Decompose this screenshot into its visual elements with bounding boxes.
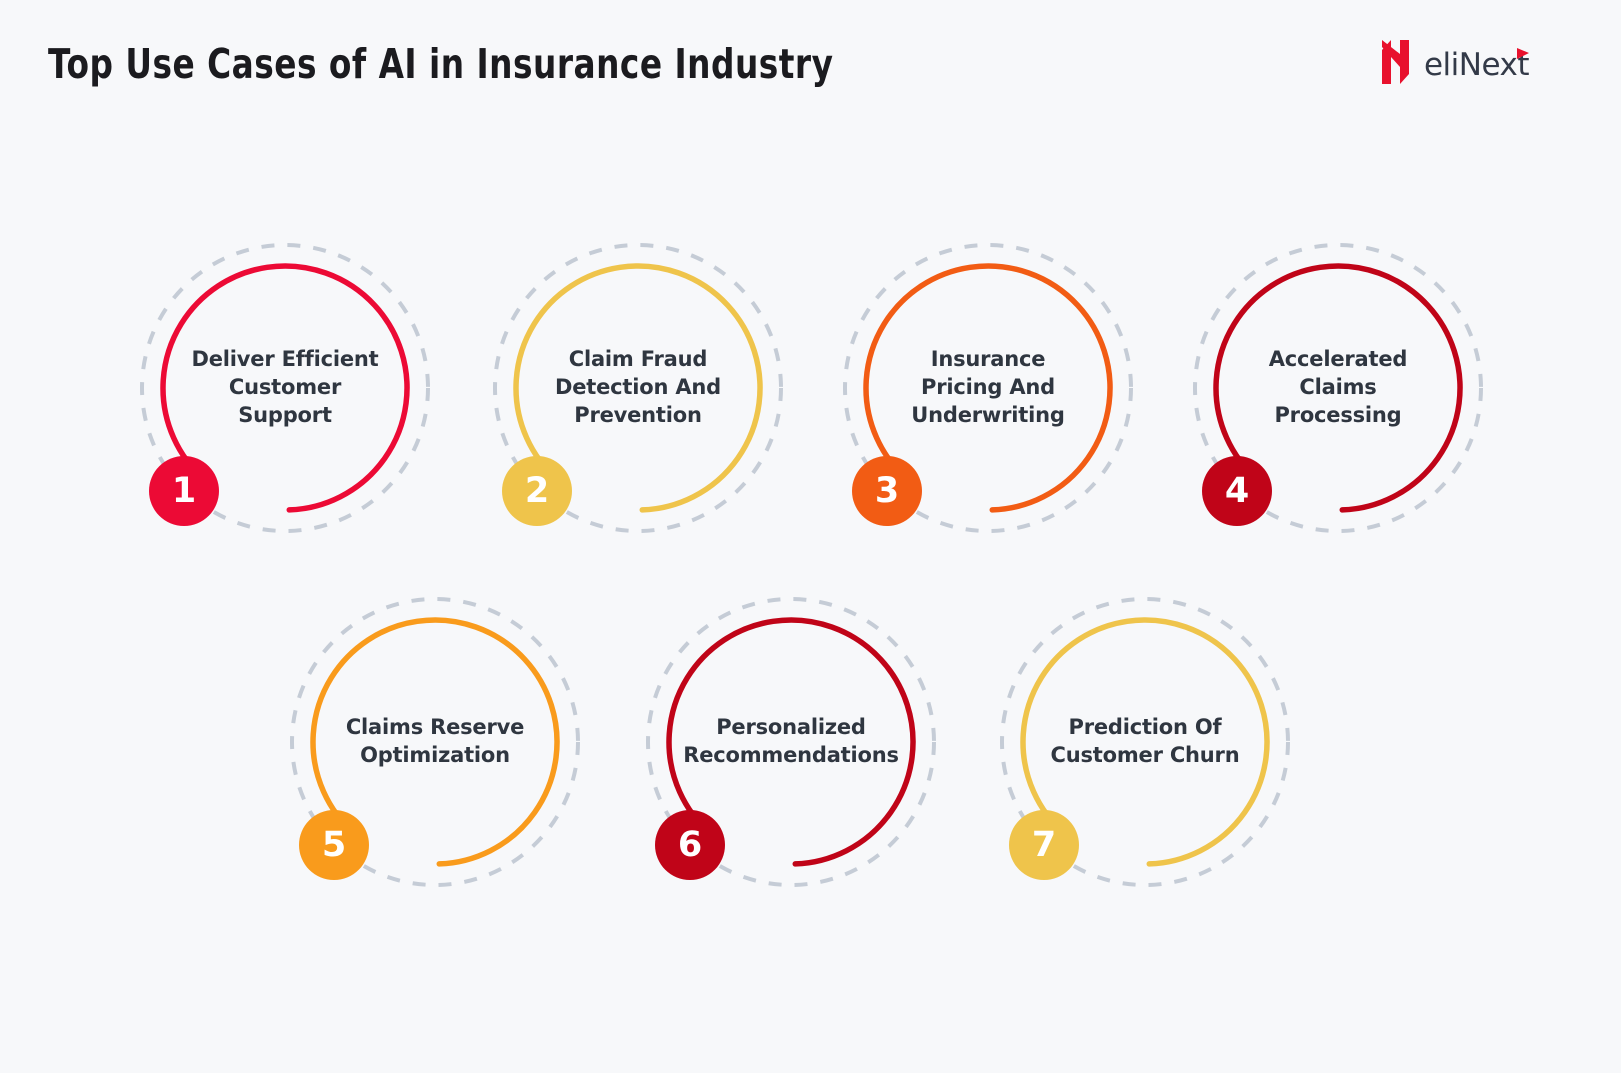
use-case-label: Claim Fraud Detection And Prevention	[472, 346, 804, 430]
step-number-text: 6	[678, 828, 702, 863]
use-case-label: Prediction Of Customer Churn	[979, 714, 1311, 770]
step-number-text: 5	[322, 828, 346, 863]
step-number-badge: 2	[502, 456, 572, 526]
use-case-label: Deliver Efficient Customer Support	[119, 346, 451, 430]
step-number-badge: 5	[299, 810, 369, 880]
use-case-label: Personalized Recommendations	[625, 714, 957, 770]
use-case-card-7[interactable]: Prediction Of Customer Churn7	[995, 592, 1295, 892]
use-case-card-6[interactable]: Personalized Recommendations6	[641, 592, 941, 892]
step-number-badge: 7	[1009, 810, 1079, 880]
step-number-text: 2	[525, 474, 549, 509]
use-case-card-5[interactable]: Claims Reserve Optimization5	[285, 592, 585, 892]
step-number-badge: 6	[655, 810, 725, 880]
step-number-text: 3	[875, 474, 899, 509]
use-case-label: Insurance Pricing And Underwriting	[822, 346, 1154, 430]
use-case-card-3[interactable]: Insurance Pricing And Underwriting3	[838, 238, 1138, 538]
step-number-badge: 4	[1202, 456, 1272, 526]
use-case-card-4[interactable]: Accelerated Claims Processing4	[1188, 238, 1488, 538]
step-number-text: 4	[1225, 474, 1249, 509]
use-case-card-1[interactable]: Deliver Efficient Customer Support1	[135, 238, 435, 538]
use-case-grid: Deliver Efficient Customer Support1Claim…	[0, 0, 1621, 1073]
step-number-badge: 1	[149, 456, 219, 526]
use-case-card-2[interactable]: Claim Fraud Detection And Prevention2	[488, 238, 788, 538]
step-number-text: 7	[1032, 828, 1056, 863]
use-case-label: Accelerated Claims Processing	[1172, 346, 1504, 430]
use-case-label: Claims Reserve Optimization	[269, 714, 601, 770]
step-number-text: 1	[172, 474, 196, 509]
step-number-badge: 3	[852, 456, 922, 526]
